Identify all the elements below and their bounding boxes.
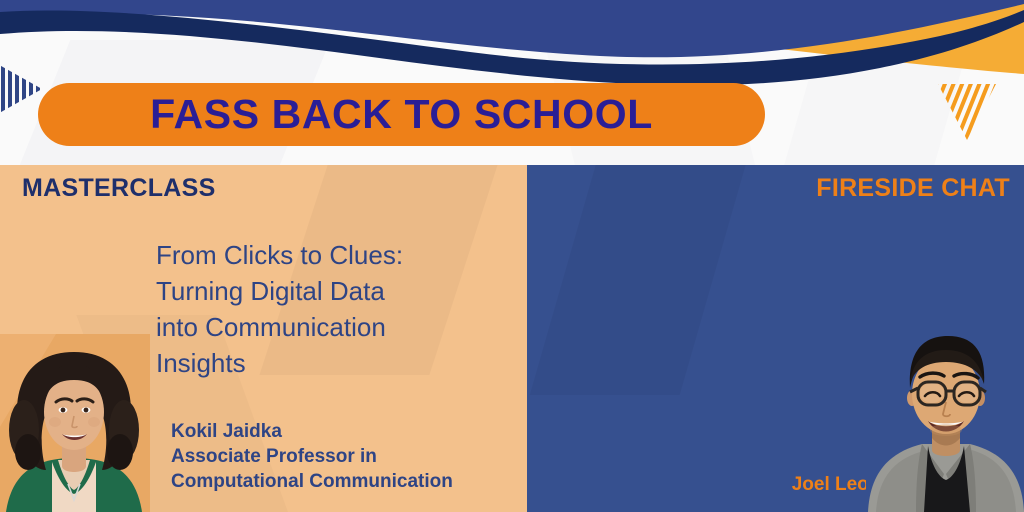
striped-triangle-down-icon xyxy=(938,84,996,142)
masterclass-title: From Clicks to Clues: Turning Digital Da… xyxy=(156,237,521,381)
fireside-speaker-name: Joel Leong xyxy=(532,472,892,497)
label-masterclass: MASTERCLASS xyxy=(22,174,216,203)
banner-title-text: FASS BACK TO SCHOOL xyxy=(150,91,653,138)
banner-title-pill: FASS BACK TO SCHOOL xyxy=(38,83,765,146)
speaker-photo-joel-leong xyxy=(866,322,1024,512)
panel-facet xyxy=(530,165,755,395)
masterclass-speaker-block: Kokil Jaidka Associate Professor in Comp… xyxy=(171,419,527,494)
fireside-speaker-block: Joel Leong Co-founder of Shopback xyxy=(532,447,892,512)
speaker-photo-kokil-jaidka xyxy=(0,334,150,512)
header-band: FASS BACK TO SCHOOL xyxy=(0,0,1024,165)
label-fireside: FIRESIDE CHAT xyxy=(816,174,1010,203)
